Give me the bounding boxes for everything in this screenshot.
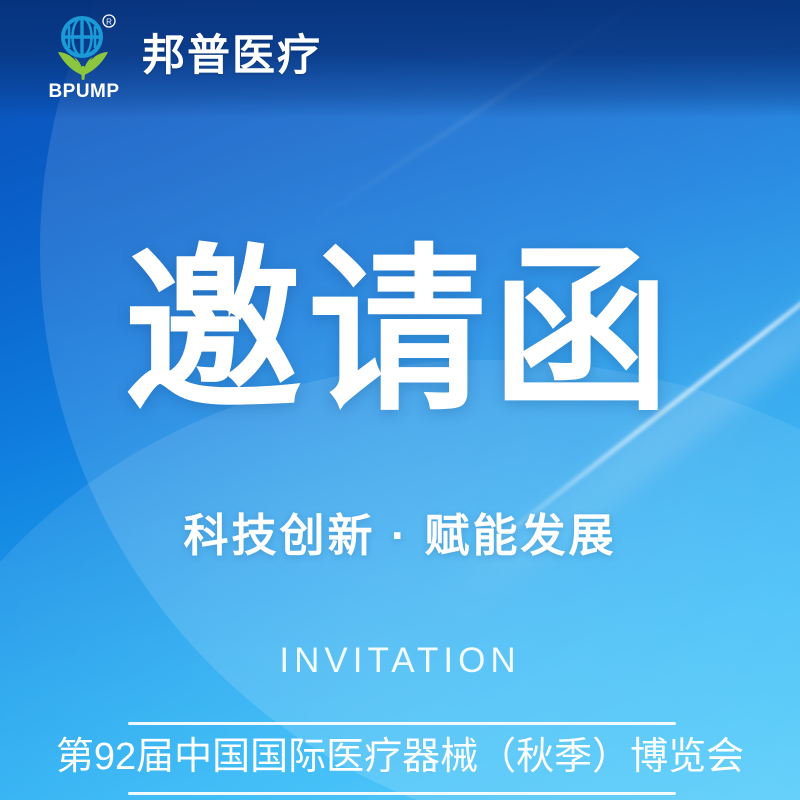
divider-top (128, 722, 676, 725)
registered-mark-icon: R (103, 15, 115, 27)
invitation-poster: R BPUMP 邦普医疗 邀请函 科技创新 · 赋能发展 INVITATION … (0, 0, 800, 800)
company-logo: R BPUMP (44, 12, 126, 100)
bpump-circle-emblem (63, 18, 101, 56)
brand-header: R BPUMP 邦普医疗 (44, 8, 322, 104)
divider-bottom (128, 792, 676, 795)
background-streak-upper (299, 0, 800, 233)
subtitle-slogan: 科技创新 · 赋能发展 (0, 513, 800, 558)
bpump-wordmark: BPUMP (48, 81, 119, 100)
english-title: INVITATION (0, 643, 800, 678)
event-name: 第92届中国国际医疗器械（秋季）博览会 (0, 737, 800, 779)
svg-text:R: R (106, 17, 112, 26)
page-title: 邀请函 (0, 243, 800, 421)
brand-name: 邦普医疗 (142, 35, 322, 78)
